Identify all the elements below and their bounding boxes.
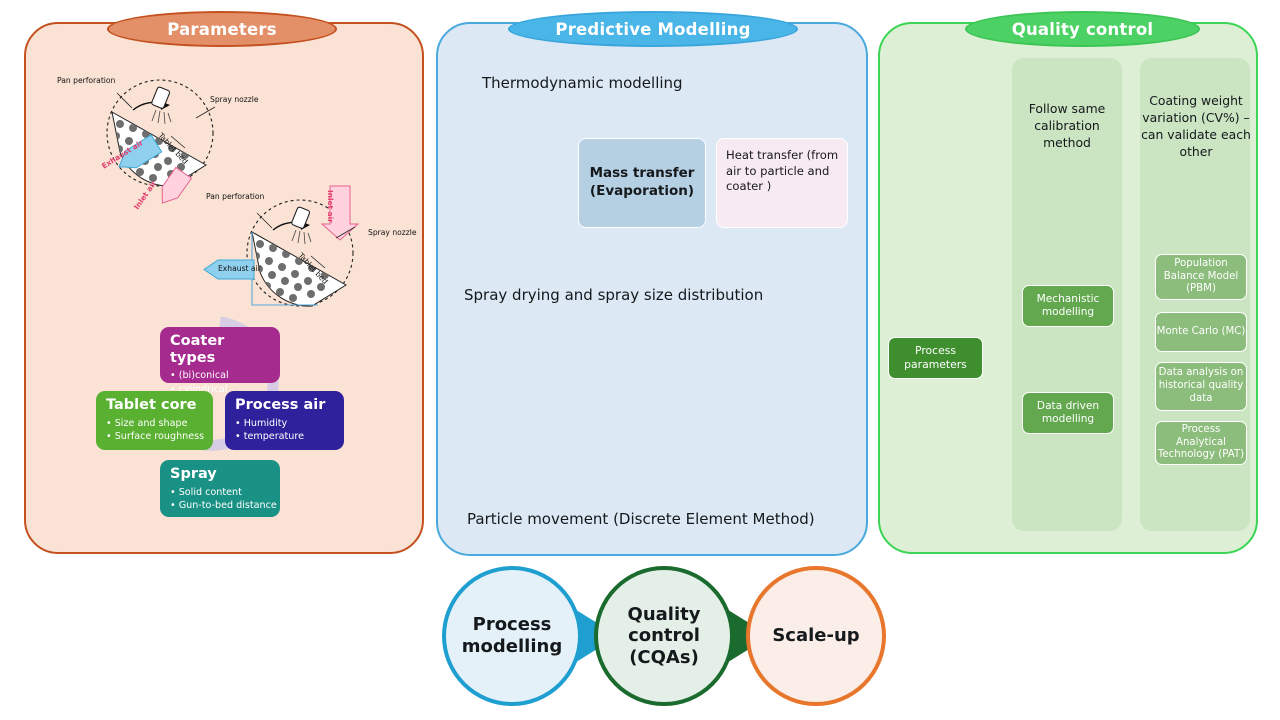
param-box-heading: Tablet core xyxy=(106,397,204,414)
label-spray-nozzle-2: Spray nozzle xyxy=(368,228,417,237)
box-heat-transfer[interactable]: Heat transfer (from air to particle and … xyxy=(716,138,848,228)
param-box-item: • Size and shape xyxy=(106,417,204,431)
node-process-parameters[interactable]: Process parameters xyxy=(888,337,983,379)
node-process-analytical-technology[interactable]: Process Analytical Technology (PAT) xyxy=(1155,421,1247,465)
param-box-tablet-core[interactable]: Tablet core • Size and shape • Surface r… xyxy=(96,391,213,450)
note-coating-weight-variation: Coating weight variation (CV%) – can val… xyxy=(1140,92,1252,160)
param-box-item: • temperature xyxy=(235,430,335,444)
flow-circle-quality-control[interactable]: Quality control (CQAs) xyxy=(594,566,734,706)
param-box-coater-types[interactable]: Coater types • (bi)conical • cylindrical xyxy=(160,327,280,383)
node-historical-quality-data[interactable]: Data analysis on historical quality data xyxy=(1155,362,1247,411)
label-spray-nozzle-1: Spray nozzle xyxy=(210,95,259,104)
flow-circle-scale-up[interactable]: Scale-up xyxy=(746,566,886,706)
label-exhaust-air-2: Exhaust air xyxy=(218,264,261,273)
label-particle-movement: Particle movement (Discrete Element Meth… xyxy=(467,510,815,528)
param-box-item: • Solid content xyxy=(170,486,271,500)
note-calibration-method: Follow same calibration method xyxy=(1014,100,1120,151)
param-box-item: • Humidity xyxy=(235,417,335,431)
param-box-item: • (bi)conical xyxy=(170,369,271,383)
title-parameters: Parameters xyxy=(107,11,337,47)
param-box-process-air[interactable]: Process air • Humidity • temperature xyxy=(225,391,344,450)
label-spray-drying: Spray drying and spray size distribution xyxy=(464,286,763,304)
label-thermodynamic-modelling: Thermodynamic modelling xyxy=(482,74,683,92)
param-box-heading: Coater types xyxy=(170,333,271,366)
flow-circle-quality-label: Quality control (CQAs) xyxy=(598,604,730,669)
param-box-item: • Surface roughness xyxy=(106,430,204,444)
node-data-driven-modelling[interactable]: Data driven modelling xyxy=(1022,392,1114,434)
label-pan-perforation-2: Pan perforation xyxy=(206,192,264,201)
param-box-heading: Spray xyxy=(170,466,271,483)
title-quality-control: Quality control xyxy=(965,11,1200,47)
node-population-balance-model[interactable]: Population Balance Model (PBM) xyxy=(1155,254,1247,300)
diagram-canvas: Pan perforation Spray nozzle Tablet bed … xyxy=(0,0,1280,720)
label-inlet-air-2: Inlet air xyxy=(326,190,335,223)
param-box-item: • Gun-to-bed distance xyxy=(170,499,271,513)
param-box-spray[interactable]: Spray • Solid content • Gun-to-bed dista… xyxy=(160,460,280,517)
box-mass-transfer[interactable]: Mass transfer (Evaporation) xyxy=(578,138,706,228)
param-box-heading: Process air xyxy=(235,397,335,414)
title-predictive-modelling: Predictive Modelling xyxy=(508,11,798,47)
node-monte-carlo[interactable]: Monte Carlo (MC) xyxy=(1155,312,1247,352)
node-mechanistic-modelling[interactable]: Mechanistic modelling xyxy=(1022,285,1114,327)
label-pan-perforation-1: Pan perforation xyxy=(57,76,115,85)
flow-circle-process-modelling[interactable]: Process modelling xyxy=(442,566,582,706)
